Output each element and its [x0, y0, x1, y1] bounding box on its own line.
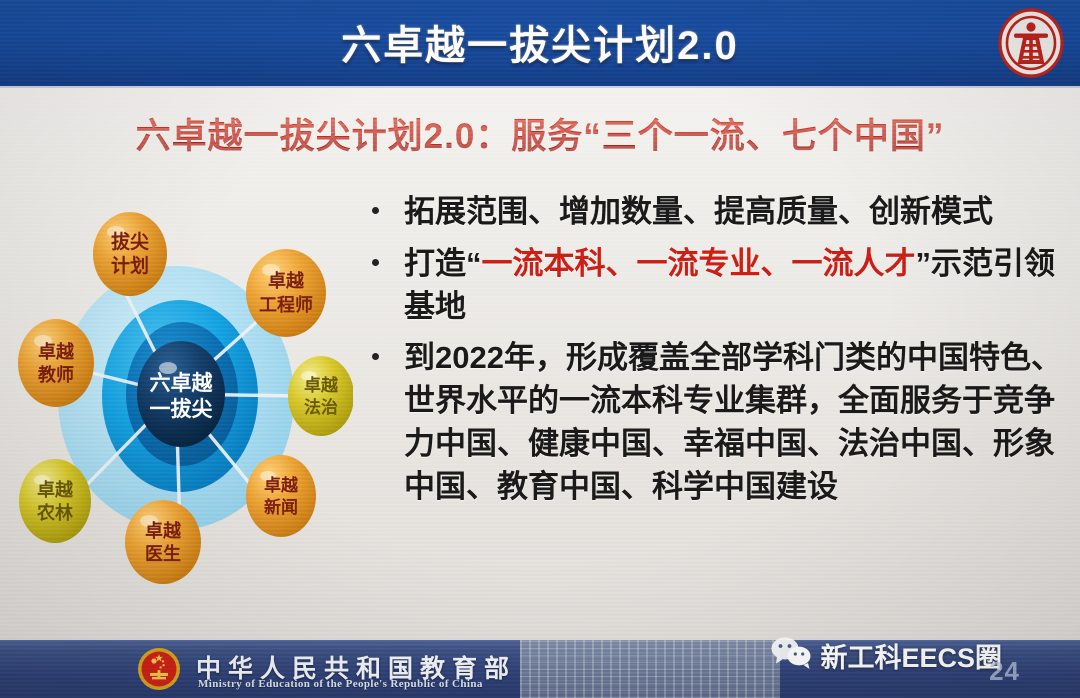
node-zhuoyue-jiaoshi-line1: 卓越 [38, 341, 75, 362]
bullet-1-segment-1: 拓展范围、增加数量、提高质量、创新模式 [404, 194, 993, 229]
bullet-list: 拓展范围、增加数量、提高质量、创新模式打造“一流本科、一流专业、一流人才”示范引… [362, 191, 1062, 517]
bullet-3-segment-1: 到2022年，形成覆盖全部学科门类的中国特色、世界水平的一流本科专业集群，全面服… [404, 340, 1062, 503]
node-zhuoyue-fazhi-line2: 法治 [304, 397, 338, 417]
node-zhuoyue-xinwen-line1: 卓越 [264, 475, 299, 495]
node-zhuoyue-gongchengshi-line2: 工程师 [259, 294, 313, 315]
node-zhuoyue-fazhi-line1: 卓越 [304, 375, 339, 395]
node-bajian-jihua-line1: 拔尖 [111, 230, 149, 253]
node-zhuoyue-nonglin-line2: 农林 [36, 502, 73, 523]
node-zhuoyue-nonglin: 卓越 农林 [19, 459, 91, 543]
wechat-watermark: 新工科EECS圈 [770, 636, 1002, 675]
moe-tower-emblem-icon [996, 8, 1066, 78]
watermark-label: 新工科EECS圈 [820, 636, 1002, 675]
slide-content-area: 六卓越一拔尖计划2.0：服务“三个一流、七个中国” [0, 88, 1080, 640]
diagram-center-line2: 一拔尖 [150, 397, 213, 421]
node-zhuoyue-jiaoshi-line2: 教师 [38, 364, 74, 385]
page-number: 24 [989, 656, 1020, 687]
bullet-item-3: 到2022年，形成覆盖全部学科门类的中国特色、世界水平的一流本科专业集群，全面服… [362, 337, 1062, 508]
bullet-item-2: 打造“一流本科、一流专业、一流人才”示范引领基地 [362, 243, 1062, 329]
slide-header-bar: 六卓越一拔尖计划2.0 [0, 0, 1080, 88]
diagram-center-line1: 六卓越 [150, 371, 214, 395]
china-national-emblem-icon [136, 646, 182, 692]
slide-screenshot: 六卓越一拔尖计划2.0 六卓越一拔尖计划2.0：服务“三个一流、七个中国” [0, 0, 1080, 698]
slide-subtitle: 六卓越一拔尖计划2.0：服务“三个一流、七个中国” [0, 108, 1080, 159]
node-zhuoyue-xinwen: 卓越 新闻 [246, 455, 316, 537]
node-zhuoyue-yisheng-line1: 卓越 [145, 520, 182, 541]
node-zhuoyue-gongchengshi-line1: 卓越 [268, 270, 305, 291]
bullet-item-1: 拓展范围、增加数量、提高质量、创新模式 [362, 191, 1062, 234]
node-zhuoyue-yisheng-line2: 医生 [145, 543, 181, 564]
node-zhuoyue-nonglin-line1: 卓越 [37, 479, 74, 500]
bullet-2-segment-2: 一流本科、一流专业、一流人才 [482, 246, 916, 281]
node-zhuoyue-xinwen-line2: 新闻 [264, 497, 298, 517]
wechat-icon [770, 636, 814, 675]
ministry-name-en: Ministry of Education of the People's Re… [198, 678, 483, 690]
node-zhuoyue-gongchengshi: 卓越 工程师 [246, 249, 326, 337]
page-title: 六卓越一拔尖计划2.0 [0, 13, 1080, 71]
node-bajian-jihua: 拔尖 计划 [93, 212, 167, 296]
bullet-marker-icon [372, 353, 379, 360]
bullet-2-segment-1: 打造“ [404, 246, 482, 281]
node-zhuoyue-fazhi: 卓越 法治 [288, 356, 353, 436]
bullet-marker-icon [372, 207, 379, 214]
node-zhuoyue-jiaoshi: 卓越 教师 [18, 319, 94, 407]
node-zhuoyue-yisheng: 卓越 医生 [125, 500, 201, 584]
node-bajian-jihua-line2: 计划 [111, 254, 149, 277]
bullet-marker-icon [372, 259, 379, 266]
six-excellence-one-top-diagram: 六卓越 一拔尖 拔尖 计划 卓越 工程师 [8, 196, 353, 606]
